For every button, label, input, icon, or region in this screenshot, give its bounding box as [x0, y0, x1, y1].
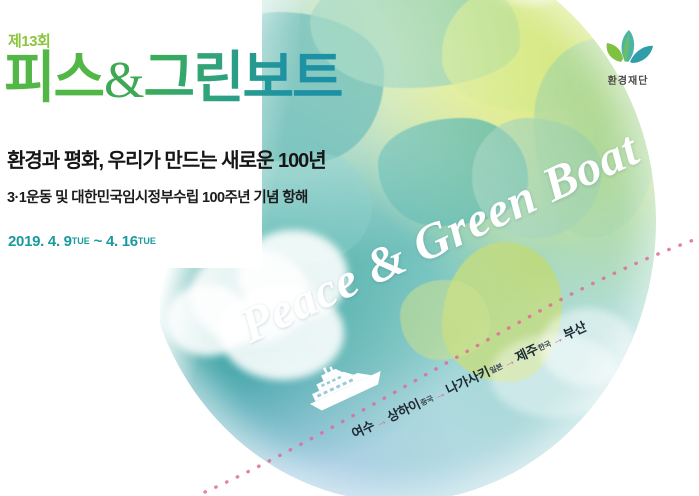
poster-canvas: Peace & Green Boat 여수→상하이중국→나가사키일본→제주한국→…	[0, 0, 699, 496]
date-separator: ~	[94, 233, 102, 250]
lower-left-backdrop	[0, 256, 228, 496]
organization-name: 환경재단	[592, 72, 664, 87]
event-dates: 2019. 4. 9TUE ~ 4. 16TUE	[8, 233, 156, 250]
port-country: 한국	[537, 339, 553, 353]
start-date: 2019. 4. 9	[8, 233, 72, 250]
title-part-greenboat: 그린보트	[144, 46, 342, 109]
port-country: 중국	[419, 394, 435, 408]
title-ampersand: &	[103, 52, 143, 109]
subtitle-main: 환경과 평화, 우리가 만드는 새로운 100년	[7, 144, 326, 173]
page-title: 피스&그린보트	[4, 50, 342, 107]
headline-backdrop-fade	[150, 0, 300, 250]
organization-logo[interactable]: 환경재단	[592, 28, 664, 87]
end-date: 4. 16	[106, 233, 138, 250]
leaf-icon	[592, 28, 664, 70]
end-weekday: TUE	[138, 236, 156, 246]
subtitle-secondary: 3·1운동 및 대한민국임시정부수립 100주년 기념 항해	[7, 186, 308, 207]
port-country: 일본	[488, 362, 504, 376]
title-part-peace: 피스	[4, 46, 103, 109]
start-weekday: TUE	[72, 236, 90, 246]
